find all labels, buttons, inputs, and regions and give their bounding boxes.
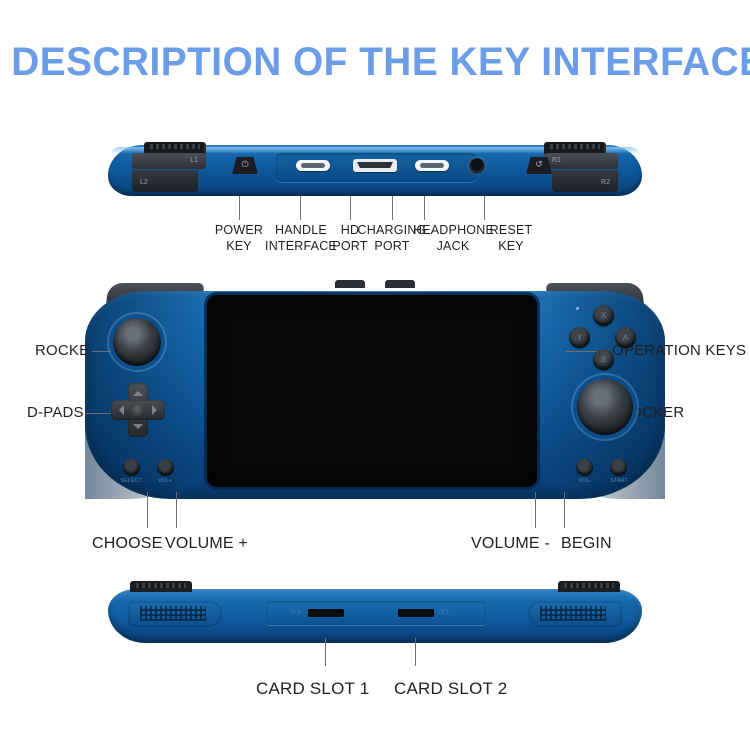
start-button-mark: START <box>601 478 637 484</box>
leader-reset-key <box>484 196 485 220</box>
select-button[interactable] <box>123 459 140 476</box>
l2-label: L2 <box>140 179 148 186</box>
volume-minus-label: VOLUME - <box>471 534 550 554</box>
volume-down-button-mark: VOL- <box>567 478 603 484</box>
volume-up-button-mark: VOL+ <box>147 478 183 484</box>
hd-port[interactable] <box>353 159 397 172</box>
select-button-mark: SELECT <box>113 478 149 484</box>
top-edge-view: L1 L2 R1 R2 ⏻ ↺ <box>108 139 642 196</box>
x-button[interactable]: X <box>593 305 614 326</box>
power-key-label: POWER KEY <box>209 222 269 255</box>
r1-label: R1 <box>552 157 561 164</box>
start-button[interactable] <box>610 459 627 476</box>
card-slot-1[interactable] <box>308 609 344 617</box>
r1-button[interactable]: R1 <box>544 153 618 169</box>
leader-begin <box>564 492 565 528</box>
b-button[interactable]: B <box>593 349 614 370</box>
volume-down-button[interactable] <box>576 459 593 476</box>
leader-headphone-jack <box>424 196 425 220</box>
leader-hd-port <box>350 196 351 220</box>
l1-label: L1 <box>190 157 198 164</box>
headphone-jack[interactable] <box>469 158 485 174</box>
handle-interface-port[interactable] <box>296 160 330 171</box>
d-pad[interactable] <box>111 383 165 437</box>
left-trigger-ridge-bottom-icon <box>130 581 192 592</box>
card-slot-2-label: CARD SLOT 2 <box>394 678 507 699</box>
d-pad-right-icon <box>152 405 162 415</box>
right-trigger-ridge-bottom-icon <box>558 581 620 592</box>
r2-button[interactable]: R2 <box>552 170 618 192</box>
card-slot-1-label: CARD SLOT 1 <box>256 678 369 699</box>
left-rocker-joystick[interactable] <box>113 318 161 366</box>
power-icon: ⏻ <box>232 160 258 169</box>
leader-card-slot-2 <box>415 638 416 666</box>
key-interface-diagram: DESCRIPTION OF THE KEY INTERFACE L1 L2 R… <box>0 0 750 750</box>
left-top-nub <box>385 280 415 288</box>
d-pad-center-hub <box>131 403 145 417</box>
right-speaker-grille-icon <box>528 601 622 627</box>
left-shoulder-group: L1 L2 <box>116 147 224 195</box>
leader-card-slot-1 <box>325 638 326 666</box>
choose-label: CHOOSE <box>92 534 163 554</box>
d-pad-left-icon <box>114 405 124 415</box>
bottom-edge-view: TF1 TF2 <box>108 585 642 643</box>
right-top-nub <box>335 280 365 288</box>
reset-key-label: RESET KEY <box>486 222 536 255</box>
leader-power-key <box>239 196 240 220</box>
volume-plus-label: VOLUME + <box>165 534 248 554</box>
d-pad-down-icon <box>133 424 143 434</box>
leader-volume-plus <box>176 492 177 528</box>
l2-button[interactable]: L2 <box>132 170 198 192</box>
leader-choose <box>147 492 148 528</box>
reset-icon: ↺ <box>526 160 552 169</box>
volume-up-button[interactable] <box>157 459 174 476</box>
card-slot-2[interactable] <box>398 609 434 617</box>
left-speaker-grille-icon <box>128 601 222 627</box>
leader-volume-minus <box>535 492 536 528</box>
front-view: X Y A B SELECT VOL+ VOL- START <box>85 283 665 503</box>
headphone-jack-label: HEADPHONE JACK <box>413 222 493 255</box>
y-button[interactable]: Y <box>569 327 590 348</box>
a-button[interactable]: A <box>615 327 636 348</box>
r2-label: R2 <box>601 179 610 186</box>
page-title: DESCRIPTION OF THE KEY INTERFACE <box>11 40 739 85</box>
leader-charging-port <box>392 196 393 220</box>
card-slot-2-mark: TF2 <box>438 610 449 616</box>
display-screen <box>207 295 537 487</box>
card-slot-1-mark: TF1 <box>290 610 301 616</box>
d-pads-label: D-PADS <box>27 404 84 423</box>
rocker-left-label: ROCKE <box>35 342 89 361</box>
operation-keys-cluster: X Y A B <box>567 305 639 375</box>
right-rocker-joystick[interactable] <box>577 379 633 435</box>
l1-button[interactable]: L1 <box>132 153 206 169</box>
leader-handle-interface <box>300 196 301 220</box>
begin-label: BEGIN <box>561 534 612 554</box>
d-pad-up-icon <box>133 386 143 396</box>
charging-port[interactable] <box>415 160 449 171</box>
